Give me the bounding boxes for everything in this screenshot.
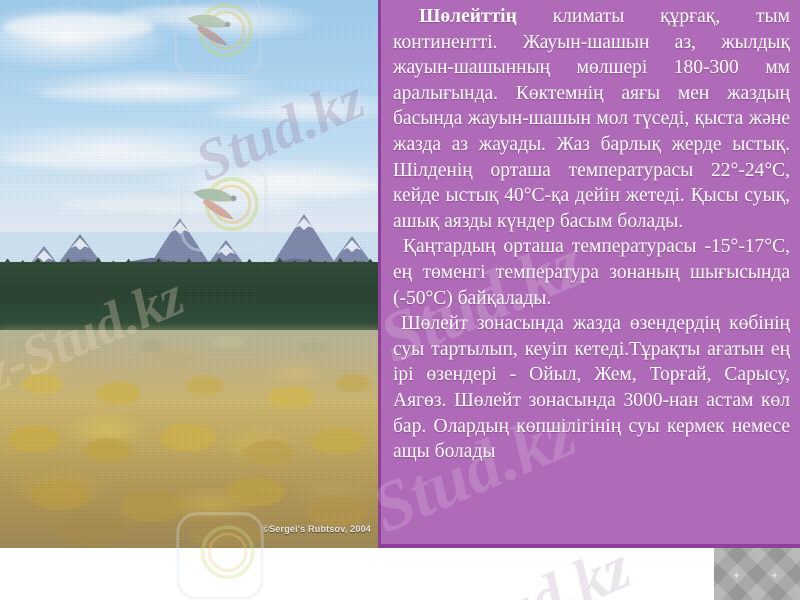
paragraph-rivers-and-lakes: Шөлейт зонасында жазда өзендердің көбіні…: [393, 311, 790, 465]
text-content-panel: Шөлейттің климаты құрғақ, тым континентт…: [378, 0, 800, 548]
paragraph-january-temperature: Қаңтардың орташа температурасы -15°-17°C…: [393, 234, 790, 311]
paragraph-body: климаты құрғақ, тым континентті. Жауын-ш…: [393, 6, 790, 232]
paragraph-body: Шөлейт зонасында жазда өзендердің көбіні…: [393, 313, 790, 462]
paragraph-climate-overview: Шөлейттің климаты құрғақ, тым континентт…: [393, 4, 790, 234]
paragraph-body: Қаңтардың орташа температурасы -15°-17°C…: [393, 236, 790, 308]
sparkle-icon: ✦: [732, 572, 741, 581]
lead-bold-term: Шөлейттің: [419, 6, 517, 27]
steppe-shrubland: [0, 330, 378, 548]
forest-belt: [0, 262, 378, 334]
gray-pattern-block: ✦ ✦: [714, 548, 800, 600]
photo-copyright-stamp: ©Sergei's Rubtsov, 2004: [262, 524, 371, 534]
landscape-photo: ©Sergei's Rubtsov, 2004: [0, 0, 378, 548]
presentation-slide: ©Sergei's Rubtsov, 2004 Шөлейттің климат…: [0, 0, 800, 600]
sparkle-icon: ✦: [770, 572, 779, 581]
